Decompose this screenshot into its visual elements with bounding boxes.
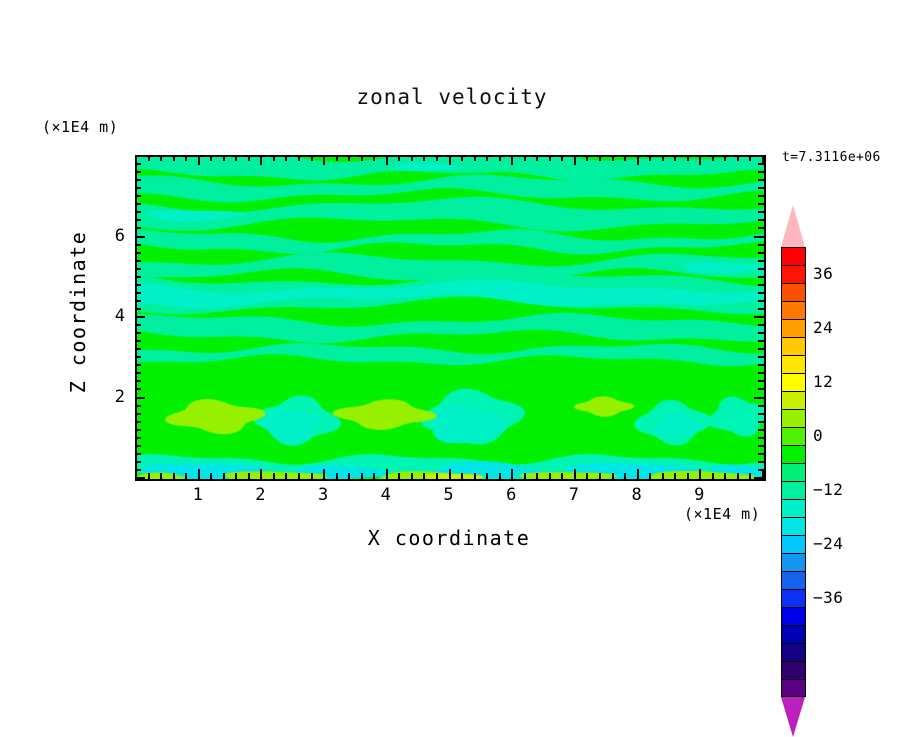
- x-minor-tick: [423, 473, 425, 479]
- x-minor-tick: [737, 473, 739, 479]
- time-annotation: t=7.3116e+06: [782, 150, 881, 165]
- page-title: zonal velocity: [0, 85, 904, 109]
- y-major-tick-right: [754, 477, 764, 479]
- y-axis-title: Z coordinate: [66, 192, 90, 432]
- x-tick-label: 3: [303, 485, 343, 505]
- x-tick-label: 9: [679, 485, 719, 505]
- x-minor-tick-top: [223, 155, 225, 161]
- y-minor-tick-right: [758, 364, 764, 366]
- x-minor-tick-top: [486, 155, 488, 161]
- y-minor-tick: [135, 356, 141, 358]
- x-minor-tick-top: [649, 155, 651, 161]
- x-minor-tick-top: [148, 155, 150, 161]
- y-minor-tick: [135, 260, 141, 262]
- y-minor-tick: [135, 244, 141, 246]
- y-minor-tick: [135, 380, 141, 382]
- y-major-tick-right: [754, 397, 764, 399]
- y-minor-tick: [135, 437, 141, 439]
- colorbar-cell[interactable]: [781, 301, 806, 319]
- x-minor-tick: [536, 473, 538, 479]
- x-minor-tick-top: [273, 155, 275, 161]
- y-minor-tick: [135, 461, 141, 463]
- y-minor-tick-right: [758, 244, 764, 246]
- x-minor-tick-top: [285, 155, 287, 161]
- y-minor-tick-right: [758, 187, 764, 189]
- x-major-tick-top: [637, 155, 639, 165]
- x-minor-tick-top: [160, 155, 162, 161]
- x-minor-tick-top: [423, 155, 425, 161]
- x-minor-tick: [373, 473, 375, 479]
- y-minor-tick-right: [758, 179, 764, 181]
- y-minor-tick-right: [758, 276, 764, 278]
- x-minor-tick: [361, 473, 363, 479]
- x-minor-tick: [436, 473, 438, 479]
- x-minor-tick-top: [436, 155, 438, 161]
- y-minor-tick: [135, 284, 141, 286]
- x-minor-tick-top: [499, 155, 501, 161]
- y-minor-tick: [135, 163, 141, 165]
- y-minor-tick-right: [758, 284, 764, 286]
- x-minor-tick: [687, 473, 689, 479]
- x-minor-tick: [461, 473, 463, 479]
- x-minor-tick: [185, 473, 187, 479]
- x-minor-tick-top: [749, 155, 751, 161]
- x-minor-tick: [348, 473, 350, 479]
- x-minor-tick: [624, 473, 626, 479]
- y-minor-tick-right: [758, 332, 764, 334]
- x-minor-tick-top: [624, 155, 626, 161]
- y-minor-tick: [135, 324, 141, 326]
- colorbar-cell[interactable]: [781, 571, 806, 589]
- x-major-tick-top: [386, 155, 388, 165]
- y-minor-tick-right: [758, 405, 764, 407]
- y-minor-tick: [135, 445, 141, 447]
- x-minor-tick-top: [586, 155, 588, 161]
- x-minor-tick: [311, 473, 313, 479]
- y-minor-tick-right: [758, 356, 764, 358]
- y-major-tick: [135, 236, 145, 238]
- x-minor-tick: [160, 473, 162, 479]
- colorbar-cell[interactable]: [781, 463, 806, 481]
- y-minor-tick-right: [758, 445, 764, 447]
- x-minor-tick: [674, 473, 676, 479]
- y-minor-tick-right: [758, 227, 764, 229]
- colorbar-cell[interactable]: [781, 319, 806, 337]
- x-major-tick-top: [511, 155, 513, 165]
- x-minor-tick-top: [398, 155, 400, 161]
- x-major-tick: [637, 469, 639, 479]
- x-axis-title: X coordinate: [135, 526, 763, 550]
- contour-field: [137, 157, 764, 479]
- x-minor-tick: [474, 473, 476, 479]
- y-minor-tick: [135, 195, 141, 197]
- y-minor-tick: [135, 469, 141, 471]
- x-minor-tick-top: [674, 155, 676, 161]
- y-major-tick: [135, 397, 145, 399]
- y-minor-tick-right: [758, 171, 764, 173]
- x-major-tick: [449, 469, 451, 479]
- x-tick-label: 8: [617, 485, 657, 505]
- x-minor-tick-top: [461, 155, 463, 161]
- x-minor-tick: [223, 473, 225, 479]
- x-tick-label: 5: [429, 485, 469, 505]
- colorbar-cell[interactable]: [781, 265, 806, 283]
- x-minor-tick: [173, 473, 175, 479]
- x-major-tick: [260, 469, 262, 479]
- colorbar-cell[interactable]: [781, 373, 806, 391]
- colorbar-cell[interactable]: [781, 247, 806, 265]
- x-minor-tick: [549, 473, 551, 479]
- x-minor-tick-top: [474, 155, 476, 161]
- y-minor-tick-right: [758, 260, 764, 262]
- x-major-tick: [198, 469, 200, 479]
- x-tick-label: 4: [366, 485, 406, 505]
- colorbar-cell[interactable]: [781, 607, 806, 625]
- y-minor-tick-right: [758, 348, 764, 350]
- colorbar-cell[interactable]: [781, 625, 806, 643]
- y-minor-tick-right: [758, 211, 764, 213]
- y-minor-tick: [135, 187, 141, 189]
- x-minor-tick-top: [173, 155, 175, 161]
- x-minor-tick: [336, 473, 338, 479]
- colorbar-cell[interactable]: [781, 445, 806, 463]
- contour-plot-area[interactable]: [135, 155, 766, 481]
- x-major-tick-top: [260, 155, 262, 165]
- x-major-tick-top: [574, 155, 576, 165]
- y-minor-tick: [135, 340, 141, 342]
- y-minor-tick-right: [758, 469, 764, 471]
- x-major-tick: [511, 469, 513, 479]
- y-minor-tick-right: [758, 219, 764, 221]
- x-axis-unit-label: (×1E4 m): [684, 505, 760, 523]
- colorbar-cell[interactable]: [781, 643, 806, 661]
- y-minor-tick: [135, 453, 141, 455]
- colorbar-cell[interactable]: [781, 499, 806, 517]
- x-minor-tick: [561, 473, 563, 479]
- x-minor-tick-top: [561, 155, 563, 161]
- x-major-tick: [574, 469, 576, 479]
- colorbar-tick-label: −36: [813, 588, 843, 607]
- y-minor-tick: [135, 227, 141, 229]
- y-minor-tick-right: [758, 195, 764, 197]
- y-minor-tick: [135, 388, 141, 390]
- x-minor-tick-top: [536, 155, 538, 161]
- x-minor-tick: [273, 473, 275, 479]
- x-major-tick-top: [198, 155, 200, 165]
- x-minor-tick-top: [524, 155, 526, 161]
- x-minor-tick-top: [311, 155, 313, 161]
- colorbar-tick-label: −12: [813, 480, 843, 499]
- colorbar-cap-bottom: [781, 697, 805, 737]
- x-minor-tick-top: [599, 155, 601, 161]
- x-minor-tick-top: [662, 155, 664, 161]
- colorbar-tick-label: 12: [813, 372, 833, 391]
- colorbar-cell[interactable]: [781, 337, 806, 355]
- x-minor-tick-top: [687, 155, 689, 161]
- x-minor-tick: [599, 473, 601, 479]
- y-minor-tick-right: [758, 308, 764, 310]
- x-major-tick-top: [699, 155, 701, 165]
- x-tick-label: 7: [554, 485, 594, 505]
- y-minor-tick: [135, 421, 141, 423]
- x-major-tick: [323, 469, 325, 479]
- colorbar-tick-label: 24: [813, 318, 833, 337]
- x-minor-tick: [712, 473, 714, 479]
- x-minor-tick-top: [298, 155, 300, 161]
- x-minor-tick-top: [724, 155, 726, 161]
- y-minor-tick: [135, 211, 141, 213]
- x-minor-tick-top: [185, 155, 187, 161]
- y-minor-tick-right: [758, 372, 764, 374]
- colorbar-cell[interactable]: [781, 679, 806, 697]
- x-minor-tick: [724, 473, 726, 479]
- colorbar[interactable]: [781, 247, 806, 697]
- colorbar-cell[interactable]: [781, 589, 806, 607]
- x-minor-tick-top: [248, 155, 250, 161]
- x-minor-tick-top: [712, 155, 714, 161]
- y-minor-tick: [135, 364, 141, 366]
- colorbar-cell[interactable]: [781, 355, 806, 373]
- x-tick-label: 6: [491, 485, 531, 505]
- y-minor-tick-right: [758, 421, 764, 423]
- y-major-tick-right: [754, 155, 764, 157]
- y-minor-tick: [135, 300, 141, 302]
- y-minor-tick: [135, 405, 141, 407]
- colorbar-cap-top: [781, 205, 805, 247]
- y-minor-tick: [135, 171, 141, 173]
- y-minor-tick: [135, 372, 141, 374]
- x-minor-tick: [248, 473, 250, 479]
- x-tick-label: 1: [178, 485, 218, 505]
- colorbar-cell[interactable]: [781, 409, 806, 427]
- x-minor-tick: [298, 473, 300, 479]
- x-minor-tick: [524, 473, 526, 479]
- y-minor-tick: [135, 429, 141, 431]
- y-axis-unit-label: (×1E4 m): [42, 118, 118, 136]
- colorbar-cell[interactable]: [781, 535, 806, 553]
- colorbar-cell[interactable]: [781, 553, 806, 571]
- y-minor-tick: [135, 413, 141, 415]
- x-major-tick: [699, 469, 701, 479]
- y-minor-tick-right: [758, 300, 764, 302]
- x-minor-tick: [411, 473, 413, 479]
- y-minor-tick: [135, 348, 141, 350]
- colorbar-tick-label: 36: [813, 264, 833, 283]
- y-minor-tick: [135, 252, 141, 254]
- y-minor-tick: [135, 219, 141, 221]
- y-minor-tick-right: [758, 413, 764, 415]
- colorbar-cell[interactable]: [781, 517, 806, 535]
- x-minor-tick: [649, 473, 651, 479]
- x-major-tick: [386, 469, 388, 479]
- x-minor-tick: [285, 473, 287, 479]
- y-minor-tick: [135, 308, 141, 310]
- x-minor-tick: [235, 473, 237, 479]
- y-minor-tick: [135, 276, 141, 278]
- y-minor-tick: [135, 268, 141, 270]
- y-minor-tick: [135, 179, 141, 181]
- colorbar-tick-label: 0: [813, 426, 823, 445]
- y-minor-tick-right: [758, 388, 764, 390]
- y-tick-label: 2: [95, 387, 125, 407]
- y-minor-tick: [135, 203, 141, 205]
- x-minor-tick-top: [411, 155, 413, 161]
- y-tick-label: 4: [95, 306, 125, 326]
- x-minor-tick: [398, 473, 400, 479]
- x-minor-tick: [749, 473, 751, 479]
- y-minor-tick-right: [758, 437, 764, 439]
- x-minor-tick-top: [361, 155, 363, 161]
- y-tick-label: 6: [95, 226, 125, 246]
- y-minor-tick-right: [758, 380, 764, 382]
- x-minor-tick: [148, 473, 150, 479]
- colorbar-cell[interactable]: [781, 481, 806, 499]
- x-minor-tick-top: [348, 155, 350, 161]
- y-minor-tick: [135, 332, 141, 334]
- x-minor-tick: [210, 473, 212, 479]
- colorbar-cell[interactable]: [781, 391, 806, 409]
- x-minor-tick-top: [235, 155, 237, 161]
- x-minor-tick-top: [549, 155, 551, 161]
- y-minor-tick-right: [758, 429, 764, 431]
- x-minor-tick-top: [737, 155, 739, 161]
- x-minor-tick: [499, 473, 501, 479]
- y-minor-tick-right: [758, 163, 764, 165]
- colorbar-cell[interactable]: [781, 427, 806, 445]
- y-minor-tick-right: [758, 252, 764, 254]
- y-major-tick: [135, 316, 145, 318]
- y-major-tick-right: [754, 316, 764, 318]
- colorbar-cell[interactable]: [781, 661, 806, 679]
- x-minor-tick-top: [336, 155, 338, 161]
- x-minor-tick: [662, 473, 664, 479]
- y-major-tick-right: [754, 236, 764, 238]
- x-minor-tick: [586, 473, 588, 479]
- colorbar-cell[interactable]: [781, 283, 806, 301]
- y-minor-tick-right: [758, 203, 764, 205]
- y-minor-tick-right: [758, 453, 764, 455]
- x-major-tick-top: [323, 155, 325, 165]
- x-minor-tick-top: [373, 155, 375, 161]
- x-minor-tick: [486, 473, 488, 479]
- y-minor-tick-right: [758, 461, 764, 463]
- x-minor-tick: [612, 473, 614, 479]
- x-major-tick-top: [449, 155, 451, 165]
- y-major-tick: [135, 155, 145, 157]
- y-minor-tick-right: [758, 340, 764, 342]
- x-tick-label: 2: [240, 485, 280, 505]
- y-minor-tick: [135, 292, 141, 294]
- x-minor-tick-top: [210, 155, 212, 161]
- colorbar-tick-label: −24: [813, 534, 843, 553]
- y-major-tick: [135, 477, 145, 479]
- x-minor-tick-top: [612, 155, 614, 161]
- y-minor-tick-right: [758, 292, 764, 294]
- y-minor-tick-right: [758, 268, 764, 270]
- y-minor-tick-right: [758, 324, 764, 326]
